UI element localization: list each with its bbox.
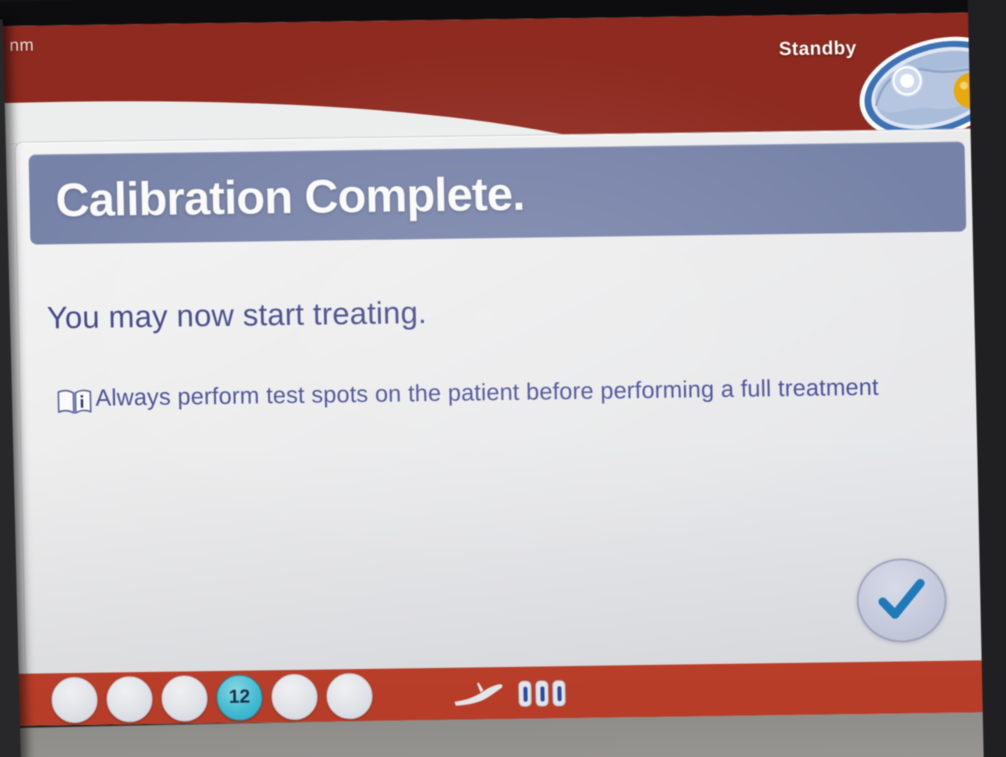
wavelength-label: 55 nm	[0, 36, 34, 57]
spot-size-dot-2[interactable]	[106, 676, 153, 723]
indicator-bar-1	[518, 681, 532, 707]
indicator-bar-3	[552, 680, 566, 706]
spot-size-dot-6[interactable]	[326, 673, 373, 720]
page-title: Calibration Complete.	[29, 165, 525, 227]
spot-size-selector[interactable]: 12	[1, 673, 373, 724]
dialog-message: You may now start treating.	[47, 295, 428, 336]
app-header: 55 nm Standby	[0, 12, 1006, 144]
dialog-title-bar: Calibration Complete.	[29, 142, 967, 245]
spot-size-dot-5[interactable]	[271, 674, 318, 721]
dialog-panel: Calibration Complete. You may now start …	[14, 128, 989, 677]
spot-size-dot-4-selected[interactable]: 12	[216, 674, 263, 721]
instructions-note-text: Always perform test spots on the patient…	[92, 373, 879, 413]
device-screen-photo: 55 nm Standby	[0, 0, 1006, 757]
footer-status-group	[450, 678, 566, 710]
handpiece-icon	[450, 679, 507, 710]
check-icon	[873, 574, 930, 627]
instructions-note: Always perform test spots on the patient…	[56, 373, 887, 417]
screen-area: 55 nm Standby	[0, 12, 1006, 726]
status-badge: Standby	[779, 38, 857, 61]
ok-check-button[interactable]	[856, 558, 948, 643]
energy-indicator-bars	[518, 680, 566, 707]
spot-size-dot-3[interactable]	[161, 675, 208, 722]
consult-instructions-icon	[56, 388, 93, 416]
spot-size-dot-1[interactable]	[51, 677, 98, 724]
indicator-bar-2	[535, 680, 549, 706]
